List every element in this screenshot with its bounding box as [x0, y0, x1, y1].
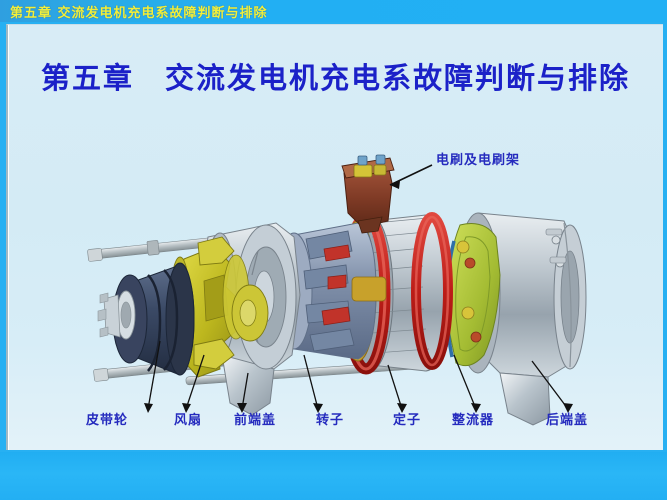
chapter-banner: 第五章 交流发电机充电系故障判断与排除	[0, 0, 667, 22]
callout-brush-label: 电刷及电刷架	[436, 149, 520, 168]
part-label-stator: 定子	[393, 409, 421, 428]
part-label-rotor: 转子	[316, 409, 344, 428]
alternator-illustration	[8, 25, 663, 450]
footer-bar	[0, 452, 667, 500]
chapter-banner-text: 第五章 交流发电机充电系故障判断与排除	[10, 2, 268, 21]
brush-callout-leader	[390, 165, 432, 189]
part-label-fan: 风扇	[174, 409, 202, 428]
part-label-rectifier: 整流器	[452, 409, 494, 428]
alternator-exploded-diagram: 电刷及电刷架 皮带轮 风扇 前端盖 转子 定子 整流器 后端盖	[8, 25, 663, 450]
brush-holder-part	[342, 155, 394, 233]
pulley-part	[98, 263, 194, 375]
part-label-front-cover: 前端盖	[234, 409, 276, 428]
slide-root: 第五章 交流发电机充电系故障判断与排除 第五章 交流发电机充电系故障判断与排除	[0, 0, 667, 500]
part-label-pulley: 皮带轮	[86, 409, 128, 428]
slide-content-panel: 第五章 交流发电机充电系故障判断与排除	[6, 24, 663, 450]
part-label-rear-cover: 后端盖	[546, 409, 588, 428]
